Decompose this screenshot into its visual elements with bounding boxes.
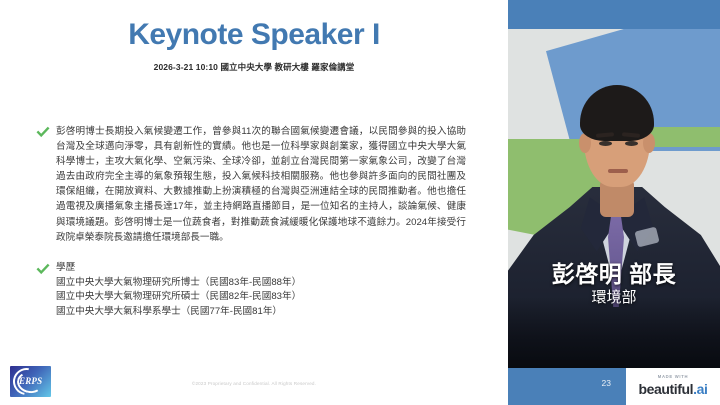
speaker-name: 彭啓明 部長	[508, 262, 720, 288]
portrait-mouth	[608, 169, 628, 173]
page-number: 23	[508, 378, 621, 388]
bio-paragraph: 彭啓明博士長期投入氣候變遷工作，曾參與11次的聯合國氣候變遷會議，以民間參與的投…	[56, 124, 466, 245]
green-check-icon	[36, 262, 50, 276]
photo-bottom-gradient	[508, 297, 720, 368]
bullet-bio: 彭啓明博士長期投入氣候變遷工作，曾參與11次的聯合國氣候變遷會議，以民間參與的投…	[36, 124, 466, 245]
green-check-icon	[36, 125, 50, 139]
page-title: Keynote Speaker I	[0, 18, 508, 51]
bottom-accent-band: 23 MADE WITH beautiful.ai	[508, 368, 720, 405]
bullet-education: 學歷 國立中央大學大氣物理研究所博士（民國83年-民國88年） 國立中央大學大氣…	[36, 261, 466, 319]
top-accent-band	[508, 0, 720, 29]
made-with-badge[interactable]: MADE WITH beautiful.ai	[626, 368, 720, 405]
education-line-doctorate: 國立中央大學大氣物理研究所博士（民國83年-民國88年）	[56, 276, 466, 291]
speaker-photo-panel: 彭啓明 部長 環境部 23 MADE WITH beautiful.ai	[508, 0, 720, 405]
speaker-organization: 環境部	[508, 289, 720, 307]
education-line-master: 國立中央大學大氣物理研究所碩士（民國82年-民國83年）	[56, 290, 466, 305]
footer-copyright: ©2023 Proprietary and Confidential. All …	[0, 381, 508, 386]
brand-name-prefix: beautiful	[638, 381, 693, 397]
portrait-eye-right	[625, 141, 638, 146]
education-line-bachelor: 國立中央大學大氣科學系學士（民國77年-民國81年）	[56, 305, 466, 320]
portrait-eye-left	[599, 141, 612, 146]
brand-name: beautiful.ai	[626, 381, 720, 397]
education-list: 學歷 國立中央大學大氣物理研究所博士（民國83年-民國88年） 國立中央大學大氣…	[56, 261, 466, 319]
slide-content-pane: Keynote Speaker I 2026-3-21 10:10 國立中央大學…	[0, 0, 508, 405]
made-with-label: MADE WITH	[626, 374, 720, 379]
page-subtitle: 2026-3-21 10:10 國立中央大學 教研大樓 羅家倫講堂	[0, 61, 508, 73]
brand-name-suffix: ai	[697, 381, 708, 397]
speaker-name-overlay: 彭啓明 部長 環境部	[508, 262, 720, 307]
education-heading: 學歷	[56, 261, 466, 276]
speaker-portrait-photo	[508, 29, 720, 368]
